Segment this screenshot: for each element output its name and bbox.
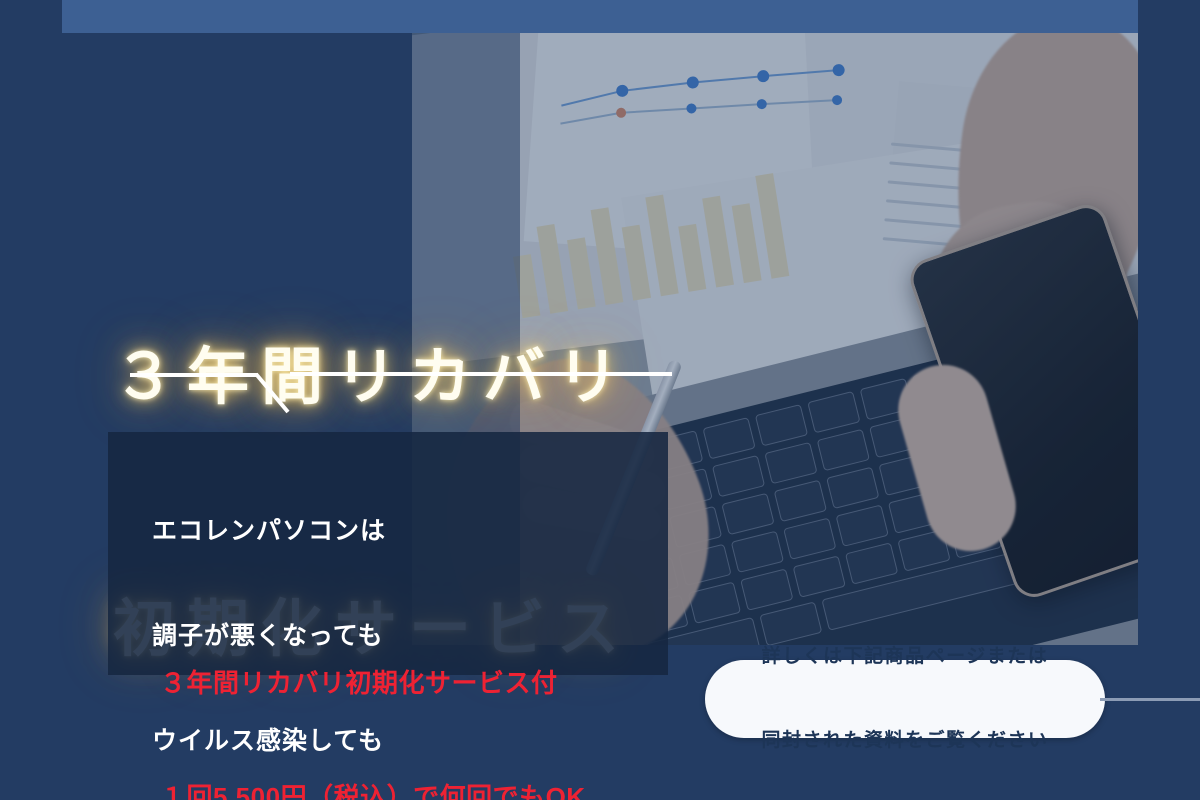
callout-text: 詳しくは下記商品ページまたは 同封された資料をご覧ください	[761, 587, 1048, 800]
body-text-red: ３年間リカバリ初期化サービス付 １回5,500円（税込）で何回でもOK	[160, 588, 720, 800]
callout-pill[interactable]: 詳しくは下記商品ページまたは 同封された資料をご覧ください	[705, 660, 1105, 738]
top-accent-bar	[62, 0, 1138, 33]
callout-line-1: 詳しくは下記商品ページまたは	[761, 643, 1048, 671]
red-line-2: １回5,500円（税込）で何回でもOK	[160, 778, 720, 800]
body-line-1: エコレンパソコンは	[152, 514, 712, 549]
callout-line-2: 同封された資料をご覧ください	[761, 727, 1048, 755]
promo-banner: ３年間リカバリ 初期化サービス エコレンパソコンは 調子が悪くなっても ウイルス…	[0, 0, 1200, 800]
headline-line-1: ３年間リカバリ	[113, 336, 631, 420]
red-line-1: ３年間リカバリ初期化サービス付	[160, 664, 720, 702]
callout-connector-line	[1100, 698, 1200, 701]
